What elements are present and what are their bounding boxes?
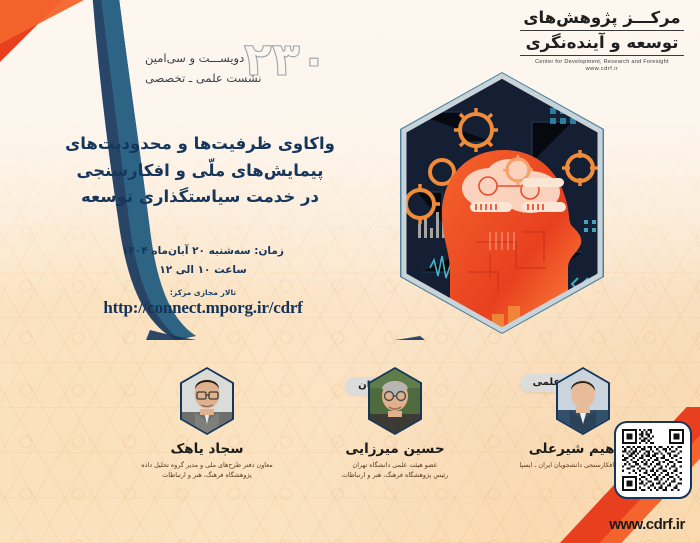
event-hours: ساعت ۱۰ الی ۱۲ [58, 264, 348, 276]
person-name: حسین میرزایی [300, 441, 490, 457]
person-title: عضو هیئت علمی دانشگاه تهران رئیس پژوهشگا… [300, 460, 490, 481]
meeting-link[interactable]: http://connect.mporg.ir/cdrf [58, 298, 348, 318]
session-label: دویســـت و سی‌امین نشست علمی ـ تخصصی [145, 48, 275, 88]
footer-website: www.cdrf.ir [604, 516, 690, 533]
logo-divider-2 [520, 55, 684, 56]
person-title: معاون دفتر طرح‌های ملی و مدیر گروه تحلیل… [112, 460, 302, 481]
avatar [552, 366, 614, 436]
event-meta: زمان: سه‌شنبه ۲۰ آبان‌ماه ۱۴۰۴ ساعت ۱۰ ا… [58, 243, 348, 318]
logo-line-1: مرکـــز پژوهش‌های [516, 8, 688, 28]
person-card: حسین میرزایی عضو هیئت علمی دانشگاه تهران… [300, 366, 490, 481]
session-ordinal: دویســـت و سی‌امین [145, 48, 275, 68]
avatar [364, 366, 426, 436]
person-title-line-1: معاون دفتر طرح‌های ملی و مدیر گروه تحلیل… [120, 460, 294, 470]
title-line-2: پیمایش‌های ملّی و افکارسنجی [52, 158, 348, 185]
person-name: سجاد یاهک [112, 441, 302, 457]
poster-canvas: مرکـــز پژوهش‌های توسعه و آینده‌نگری Cen… [0, 0, 700, 543]
title-line-3: در خدمت سیاستگذاری توسعه [52, 184, 348, 211]
person-title-line-2: رئیس پژوهشگاه فرهنگ، هنر و ارتباطات [308, 470, 482, 480]
virtual-hall-label: تالار مجازی مرکز: [58, 288, 348, 297]
people-section: ابراهیم شیرعلی رئیس مرکز افکارسنجی دانشج… [0, 366, 700, 516]
ai-brain-hexagon-illustration [372, 72, 632, 334]
person-title-line-2: پژوهشگاه فرهنگ، هنر و ارتباطات [120, 470, 294, 480]
person-title-line-1: عضو هیئت علمی دانشگاه تهران [308, 460, 482, 470]
person-card: سجاد یاهک معاون دفتر طرح‌های ملی و مدیر … [112, 366, 302, 481]
event-date: زمان: سه‌شنبه ۲۰ آبان‌ماه ۱۴۰۴ [58, 243, 348, 259]
title-line-1: واکاوی ظرفیت‌ها و محدودیت‌های [52, 131, 348, 158]
logo-english-name: Center for Development, Research and For… [516, 59, 688, 65]
qr-code[interactable] [614, 421, 692, 499]
avatar [176, 366, 238, 436]
logo-line-2: توسعه و آینده‌نگری [516, 33, 688, 53]
logo-divider [520, 30, 684, 31]
qr-code-container[interactable] [608, 421, 692, 505]
top-left-orange-corner [0, 0, 84, 44]
organization-logo: مرکـــز پژوهش‌های توسعه و آینده‌نگری Cen… [516, 8, 688, 72]
page-title: واکاوی ظرفیت‌ها و محدودیت‌های پیمایش‌های… [52, 131, 348, 211]
session-kind: نشست علمی ـ تخصصی [145, 68, 275, 88]
